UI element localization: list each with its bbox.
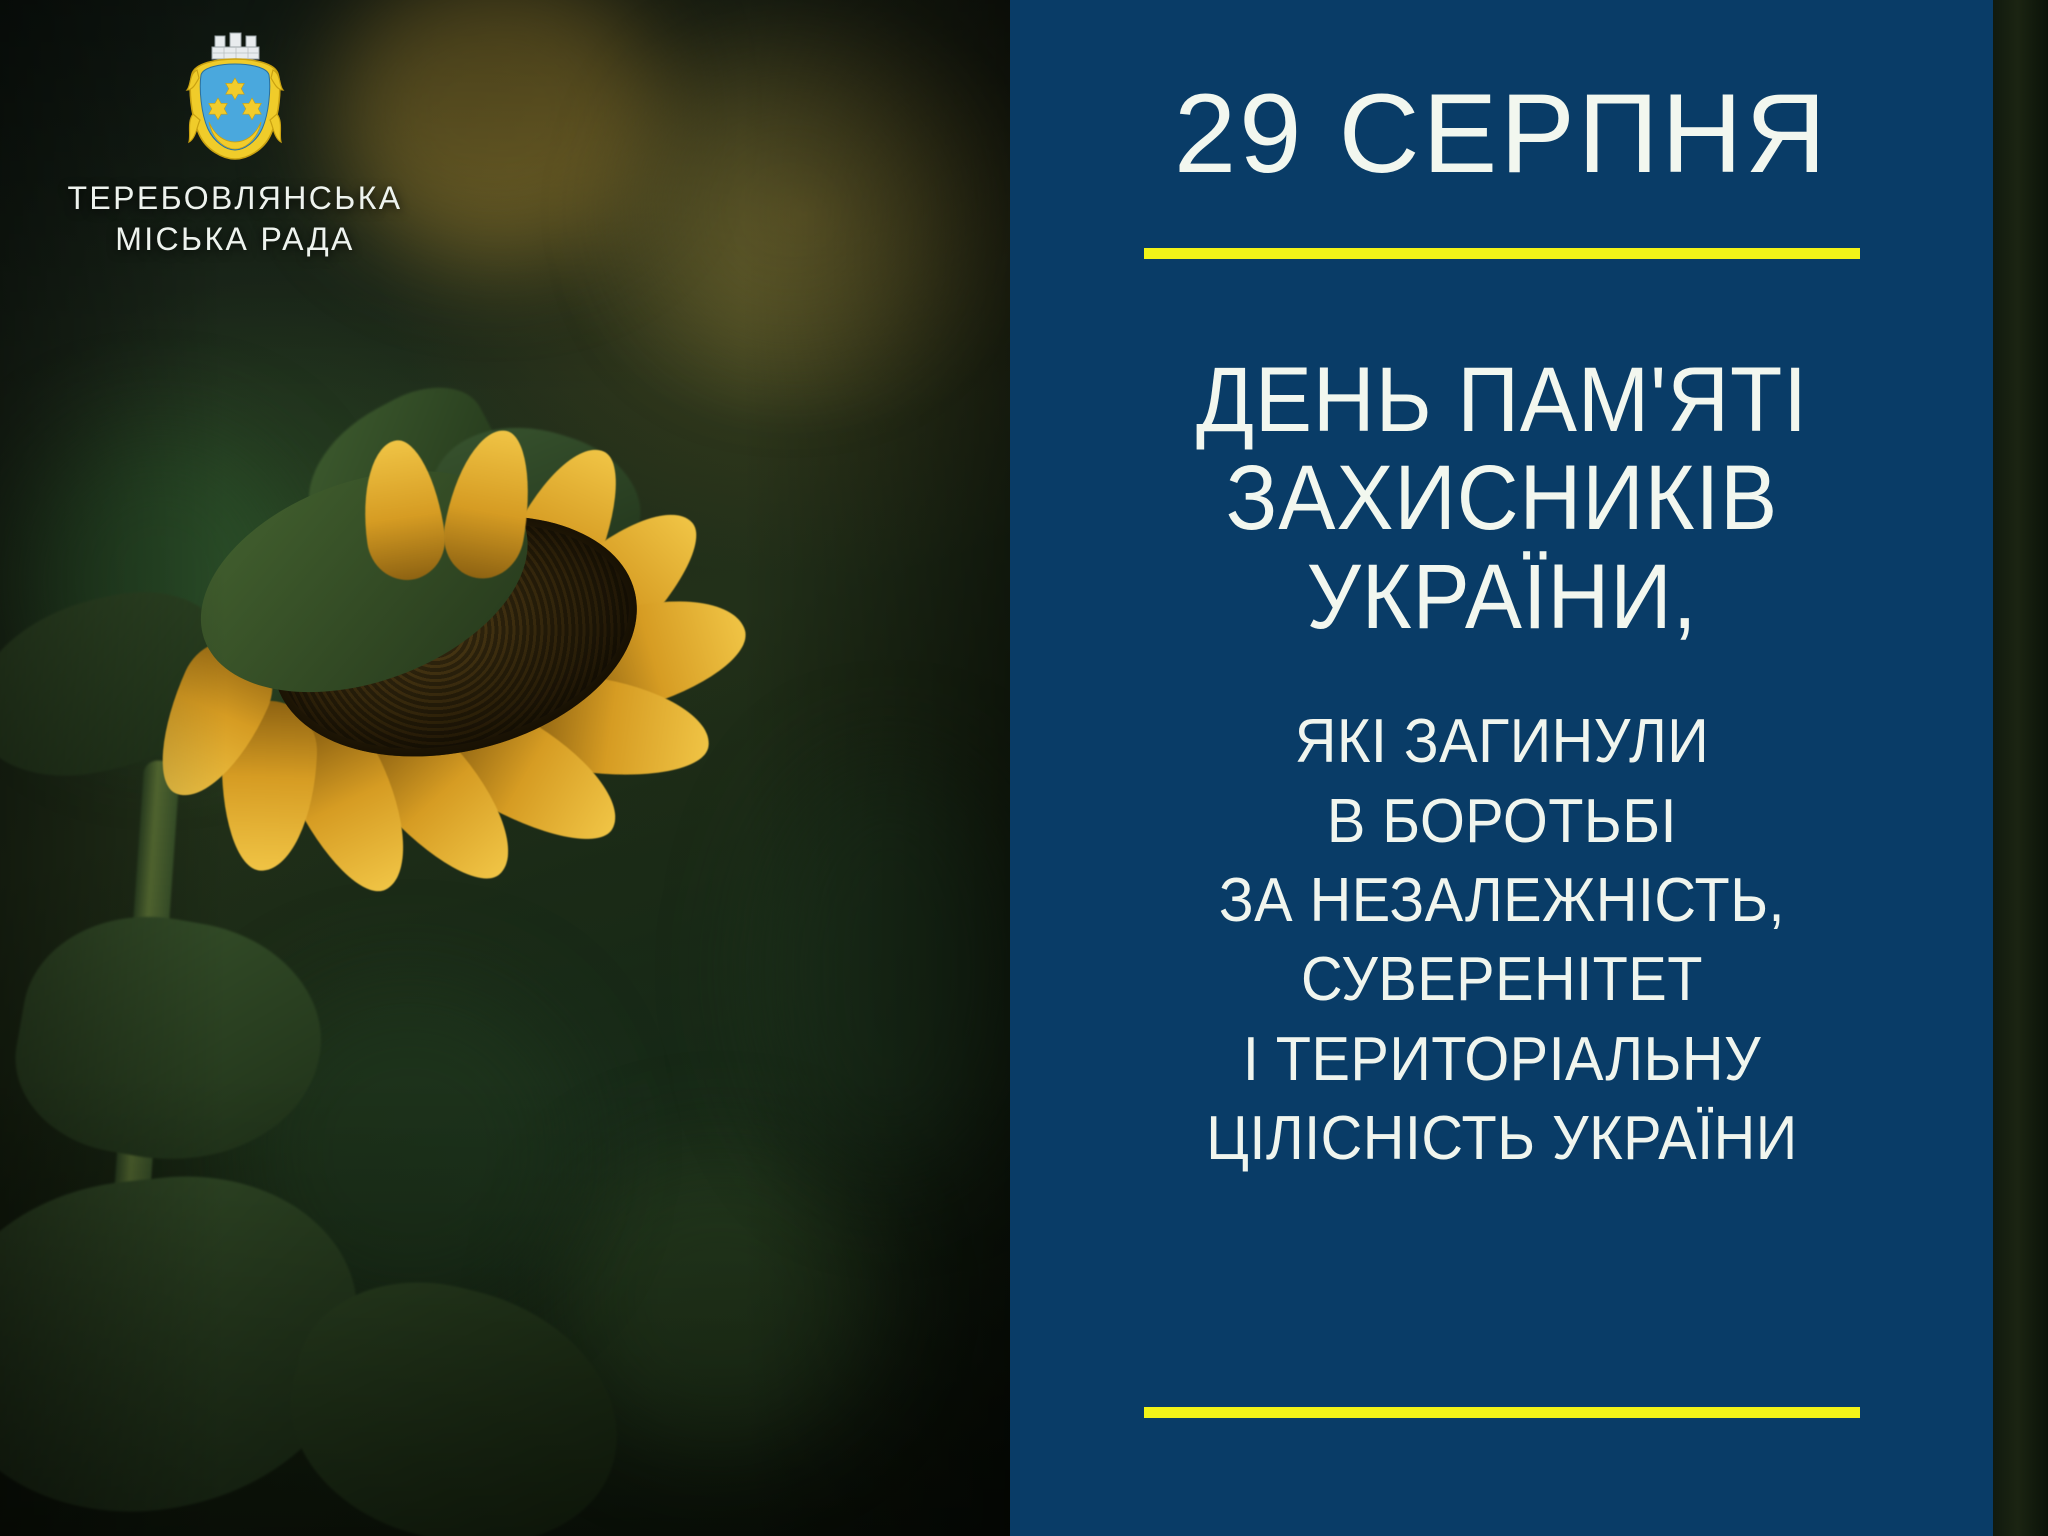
subtitle-line-2: В БОРОТЬБІ [1206, 782, 1797, 861]
event-headline: ДЕНЬ ПАМ'ЯТІ ЗАХИСНИКІВ УКРАЇНИ, [1196, 351, 1808, 646]
event-subtitle: ЯКІ ЗАГИНУЛИ В БОРОТЬБІ ЗА НЕЗАЛЕЖНІСТЬ,… [1206, 702, 1797, 1178]
subtitle-line-1: ЯКІ ЗАГИНУЛИ [1206, 702, 1797, 781]
headline-line-3: УКРАЇНИ, [1196, 548, 1808, 646]
poster-canvas: ТЕРЕБОВЛЯНСЬКА МІСЬКА РАДА 29 СЕРПНЯ ДЕН… [0, 0, 2048, 1536]
council-name-line2: МІСЬКА РАДА [67, 219, 402, 260]
content-panel: 29 СЕРПНЯ ДЕНЬ ПАМ'ЯТІ ЗАХИСНИКІВ УКРАЇН… [1010, 0, 1993, 1536]
council-logo: ТЕРЕБОВЛЯНСЬКА МІСЬКА РАДА [0, 30, 470, 260]
subtitle-line-3: ЗА НЕЗАЛЕЖНІСТЬ, [1206, 861, 1797, 940]
council-name-line1: ТЕРЕБОВЛЯНСЬКА [67, 178, 402, 219]
headline-line-1: ДЕНЬ ПАМ'ЯТІ [1196, 351, 1808, 449]
right-photo-edge [1993, 0, 2048, 1536]
teatrebovlia-coat-of-arms-icon [179, 30, 291, 162]
subtitle-line-6: ЦІЛІСНІСТЬ УКРАЇНИ [1206, 1099, 1797, 1178]
subtitle-line-5: І ТЕРИТОРІАЛЬНУ [1206, 1020, 1797, 1099]
divider-bottom [1144, 1407, 1860, 1418]
headline-line-2: ЗАХИСНИКІВ [1196, 449, 1808, 547]
event-date: 29 СЕРПНЯ [1174, 78, 1829, 190]
subtitle-line-4: СУВЕРЕНІТЕТ [1206, 940, 1797, 1019]
divider-top [1144, 248, 1860, 259]
council-name: ТЕРЕБОВЛЯНСЬКА МІСЬКА РАДА [67, 178, 402, 260]
